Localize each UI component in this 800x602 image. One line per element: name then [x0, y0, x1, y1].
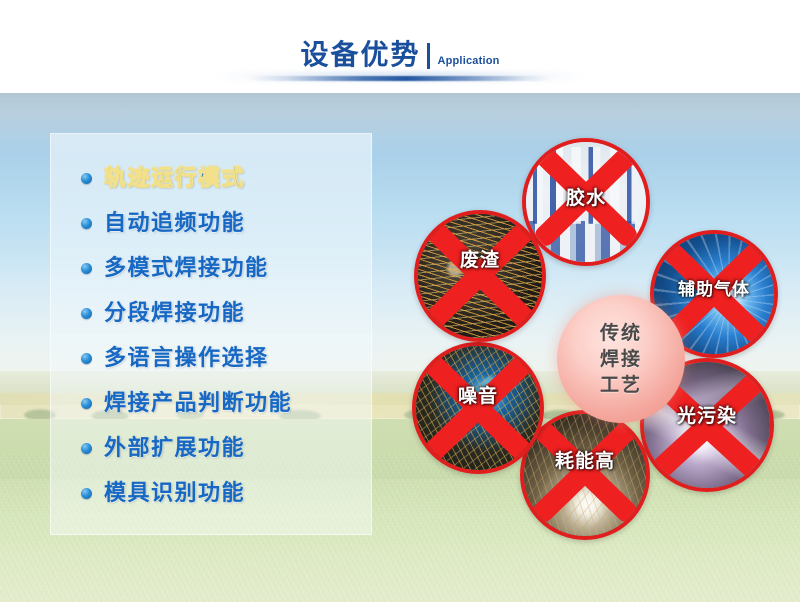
node-label: 辅助气体	[654, 275, 774, 300]
page-title-cn: 设备优势	[300, 40, 420, 70]
bullet-dot-icon	[81, 173, 92, 184]
slide-canvas: 设备优势 Application 轨迹运行模式 自动追频功能 多模式焊接功能	[0, 0, 800, 602]
diagram-node-waste-slag[interactable]: 废渣	[414, 210, 546, 342]
bullet-dot-icon	[81, 488, 92, 499]
feature-label: 焊接产品判断功能	[104, 391, 292, 417]
node-label: 胶水	[526, 183, 646, 210]
feature-label: 自动追频功能	[104, 211, 245, 237]
list-item[interactable]: 分段焊接功能	[51, 291, 371, 336]
list-item[interactable]: 模具识别功能	[51, 471, 371, 516]
list-item[interactable]: 自动追频功能	[51, 201, 371, 246]
feature-label: 多语言操作选择	[104, 346, 269, 372]
feature-label: 分段焊接功能	[104, 301, 245, 327]
page-title-en: Application	[437, 55, 499, 70]
center-label-line-2: 焊接	[600, 346, 642, 372]
bullet-dot-icon	[81, 218, 92, 229]
list-item[interactable]: 外部扩展功能	[51, 426, 371, 471]
list-item[interactable]: 多语言操作选择	[51, 336, 371, 381]
bullet-dot-icon	[81, 353, 92, 364]
node-label: 噪音	[416, 381, 540, 408]
page-title: 设备优势 Application	[0, 36, 800, 70]
red-x-icon	[416, 346, 540, 470]
bullet-dot-icon	[81, 398, 92, 409]
center-node-label: 传统 焊接 工艺	[600, 320, 642, 398]
red-x-icon	[524, 414, 646, 536]
diagram-node-noise[interactable]: 噪音	[412, 342, 544, 474]
feature-label: 轨迹运行模式	[104, 166, 245, 192]
node-label: 耗能高	[524, 446, 646, 473]
diagram-center-node[interactable]: 传统 焊接 工艺	[557, 295, 685, 423]
feature-label: 外部扩展功能	[104, 436, 245, 462]
bullet-dot-icon	[81, 263, 92, 274]
feature-panel: 轨迹运行模式 自动追频功能 多模式焊接功能 分段焊接功能 多语言操作选择 焊接产	[50, 133, 372, 535]
node-label: 废渣	[418, 245, 542, 272]
list-item[interactable]: 轨迹运行模式	[51, 156, 371, 201]
list-item[interactable]: 多模式焊接功能	[51, 246, 371, 291]
red-x-icon	[418, 214, 542, 338]
bullet-dot-icon	[81, 308, 92, 319]
title-separator-bar	[427, 43, 430, 69]
center-label-line-1: 传统	[600, 320, 642, 346]
traditional-welding-diagram: 胶水 辅助气体 光污染 耗能高	[400, 120, 800, 560]
header-bar: 设备优势 Application	[0, 0, 800, 93]
feature-list: 轨迹运行模式 自动追频功能 多模式焊接功能 分段焊接功能 多语言操作选择 焊接产	[51, 134, 371, 516]
feature-label: 模具识别功能	[104, 481, 245, 507]
center-label-line-3: 工艺	[600, 372, 642, 398]
list-item[interactable]: 焊接产品判断功能	[51, 381, 371, 426]
feature-label: 多模式焊接功能	[104, 256, 269, 282]
title-underline	[250, 76, 550, 81]
bullet-dot-icon	[81, 443, 92, 454]
